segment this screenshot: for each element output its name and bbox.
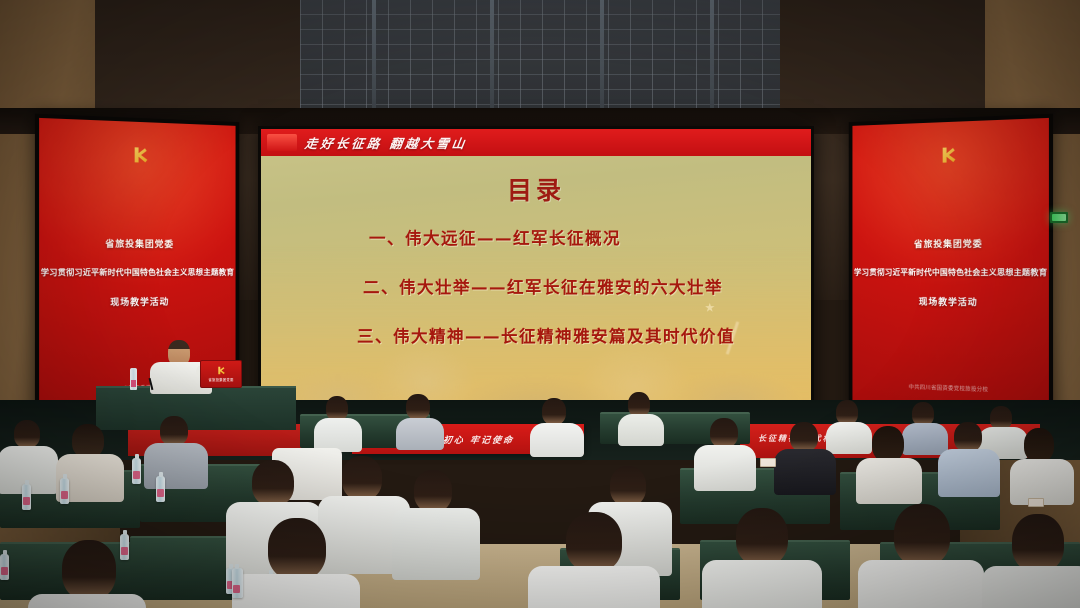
water-bottle	[0, 554, 9, 580]
water-bottle	[156, 476, 165, 502]
podium-name-card: 省旅投集团党委	[200, 360, 242, 388]
toc-item-2: 二、伟大壮举——红军长征在雅安的六大壮举	[297, 274, 775, 298]
slide-title: 目录	[261, 171, 811, 207]
water-bottle	[60, 478, 69, 504]
header-calligraphy: 走好长征路 翻越大雪山	[304, 133, 469, 152]
conference-photo-scene: 省旅投集团党委 学习贯彻习近平新时代中国特色社会主义思想主题教育 现场教学活动 …	[0, 0, 1080, 608]
header-emblem-icon	[267, 134, 297, 151]
name-card	[760, 458, 776, 467]
audience-area	[0, 392, 1080, 608]
side-screen-line-3: 现场教学活动	[110, 295, 169, 309]
water-bottle	[132, 458, 141, 484]
water-bottle	[22, 484, 31, 510]
ceiling-lattice	[300, 0, 780, 120]
party-emblem-icon	[131, 146, 149, 165]
toc-item-1: 一、伟大远征——红军长征概况	[297, 225, 775, 249]
party-emblem-icon	[217, 366, 226, 375]
podium-name-card-text: 省旅投集团党委	[208, 377, 233, 382]
slide-table-of-contents: 一、伟大远征——红军长征概况 二、伟大壮举——红军长征在雅安的六大壮举 三、伟大…	[261, 225, 811, 347]
water-bottle	[232, 568, 243, 598]
slide-header-bar: 走好长征路 翻越大雪山	[261, 129, 811, 156]
water-bottle	[120, 534, 129, 560]
side-screen-line-1: 省旅投集团党委	[914, 237, 983, 250]
side-screen-line-3: 现场教学活动	[919, 295, 978, 309]
party-emblem-icon	[939, 146, 957, 165]
podium-water-bottle	[130, 368, 137, 390]
side-screen-line-1: 省旅投集团党委	[105, 237, 174, 250]
exit-sign-icon	[1050, 212, 1068, 223]
toc-item-3: 三、伟大精神——长征精神雅安篇及其时代价值	[297, 323, 775, 347]
side-screen-right[interactable]: 省旅投集团党委 学习贯彻习近平新时代中国特色社会主义思想主题教育 现场教学活动 …	[849, 114, 1053, 423]
side-screen-line-2: 学习贯彻习近平新时代中国特色社会主义思想主题教育	[41, 267, 234, 278]
name-card	[1028, 498, 1044, 507]
side-screen-line-2: 学习贯彻习近平新时代中国特色社会主义思想主题教育	[854, 267, 1047, 278]
